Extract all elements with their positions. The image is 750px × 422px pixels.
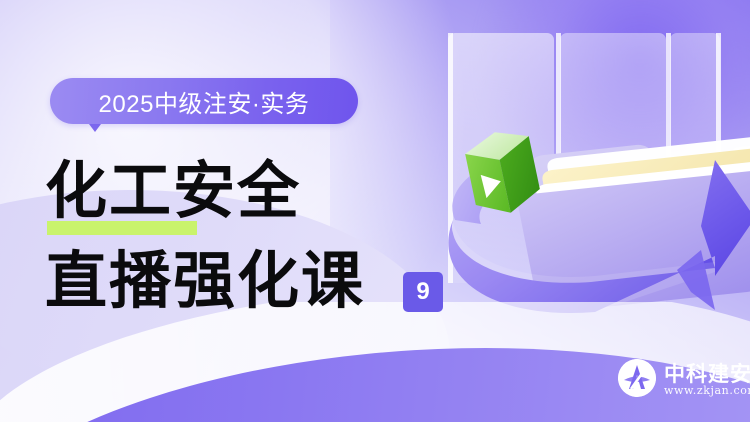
brand-logo: 中科建安 www.zkjan.com [618,356,740,404]
zkjan-logo-icon [618,359,656,397]
episode-badge: 9 [403,272,443,312]
subtitle-pill: 2025中级注安·实务 [50,78,358,124]
subtitle-text: 2025中级注安·实务 [50,78,358,124]
course-illustration [415,20,750,350]
title-line-2: 直播强化课 [45,250,365,312]
brand-url: www.zkjan.com [664,384,750,397]
title-line-1: 化工安全 [45,160,301,222]
course-banner: 2025中级注安·实务 化工安全 直播强化课 9 中科建安 www.zkjan.… [0,0,750,422]
